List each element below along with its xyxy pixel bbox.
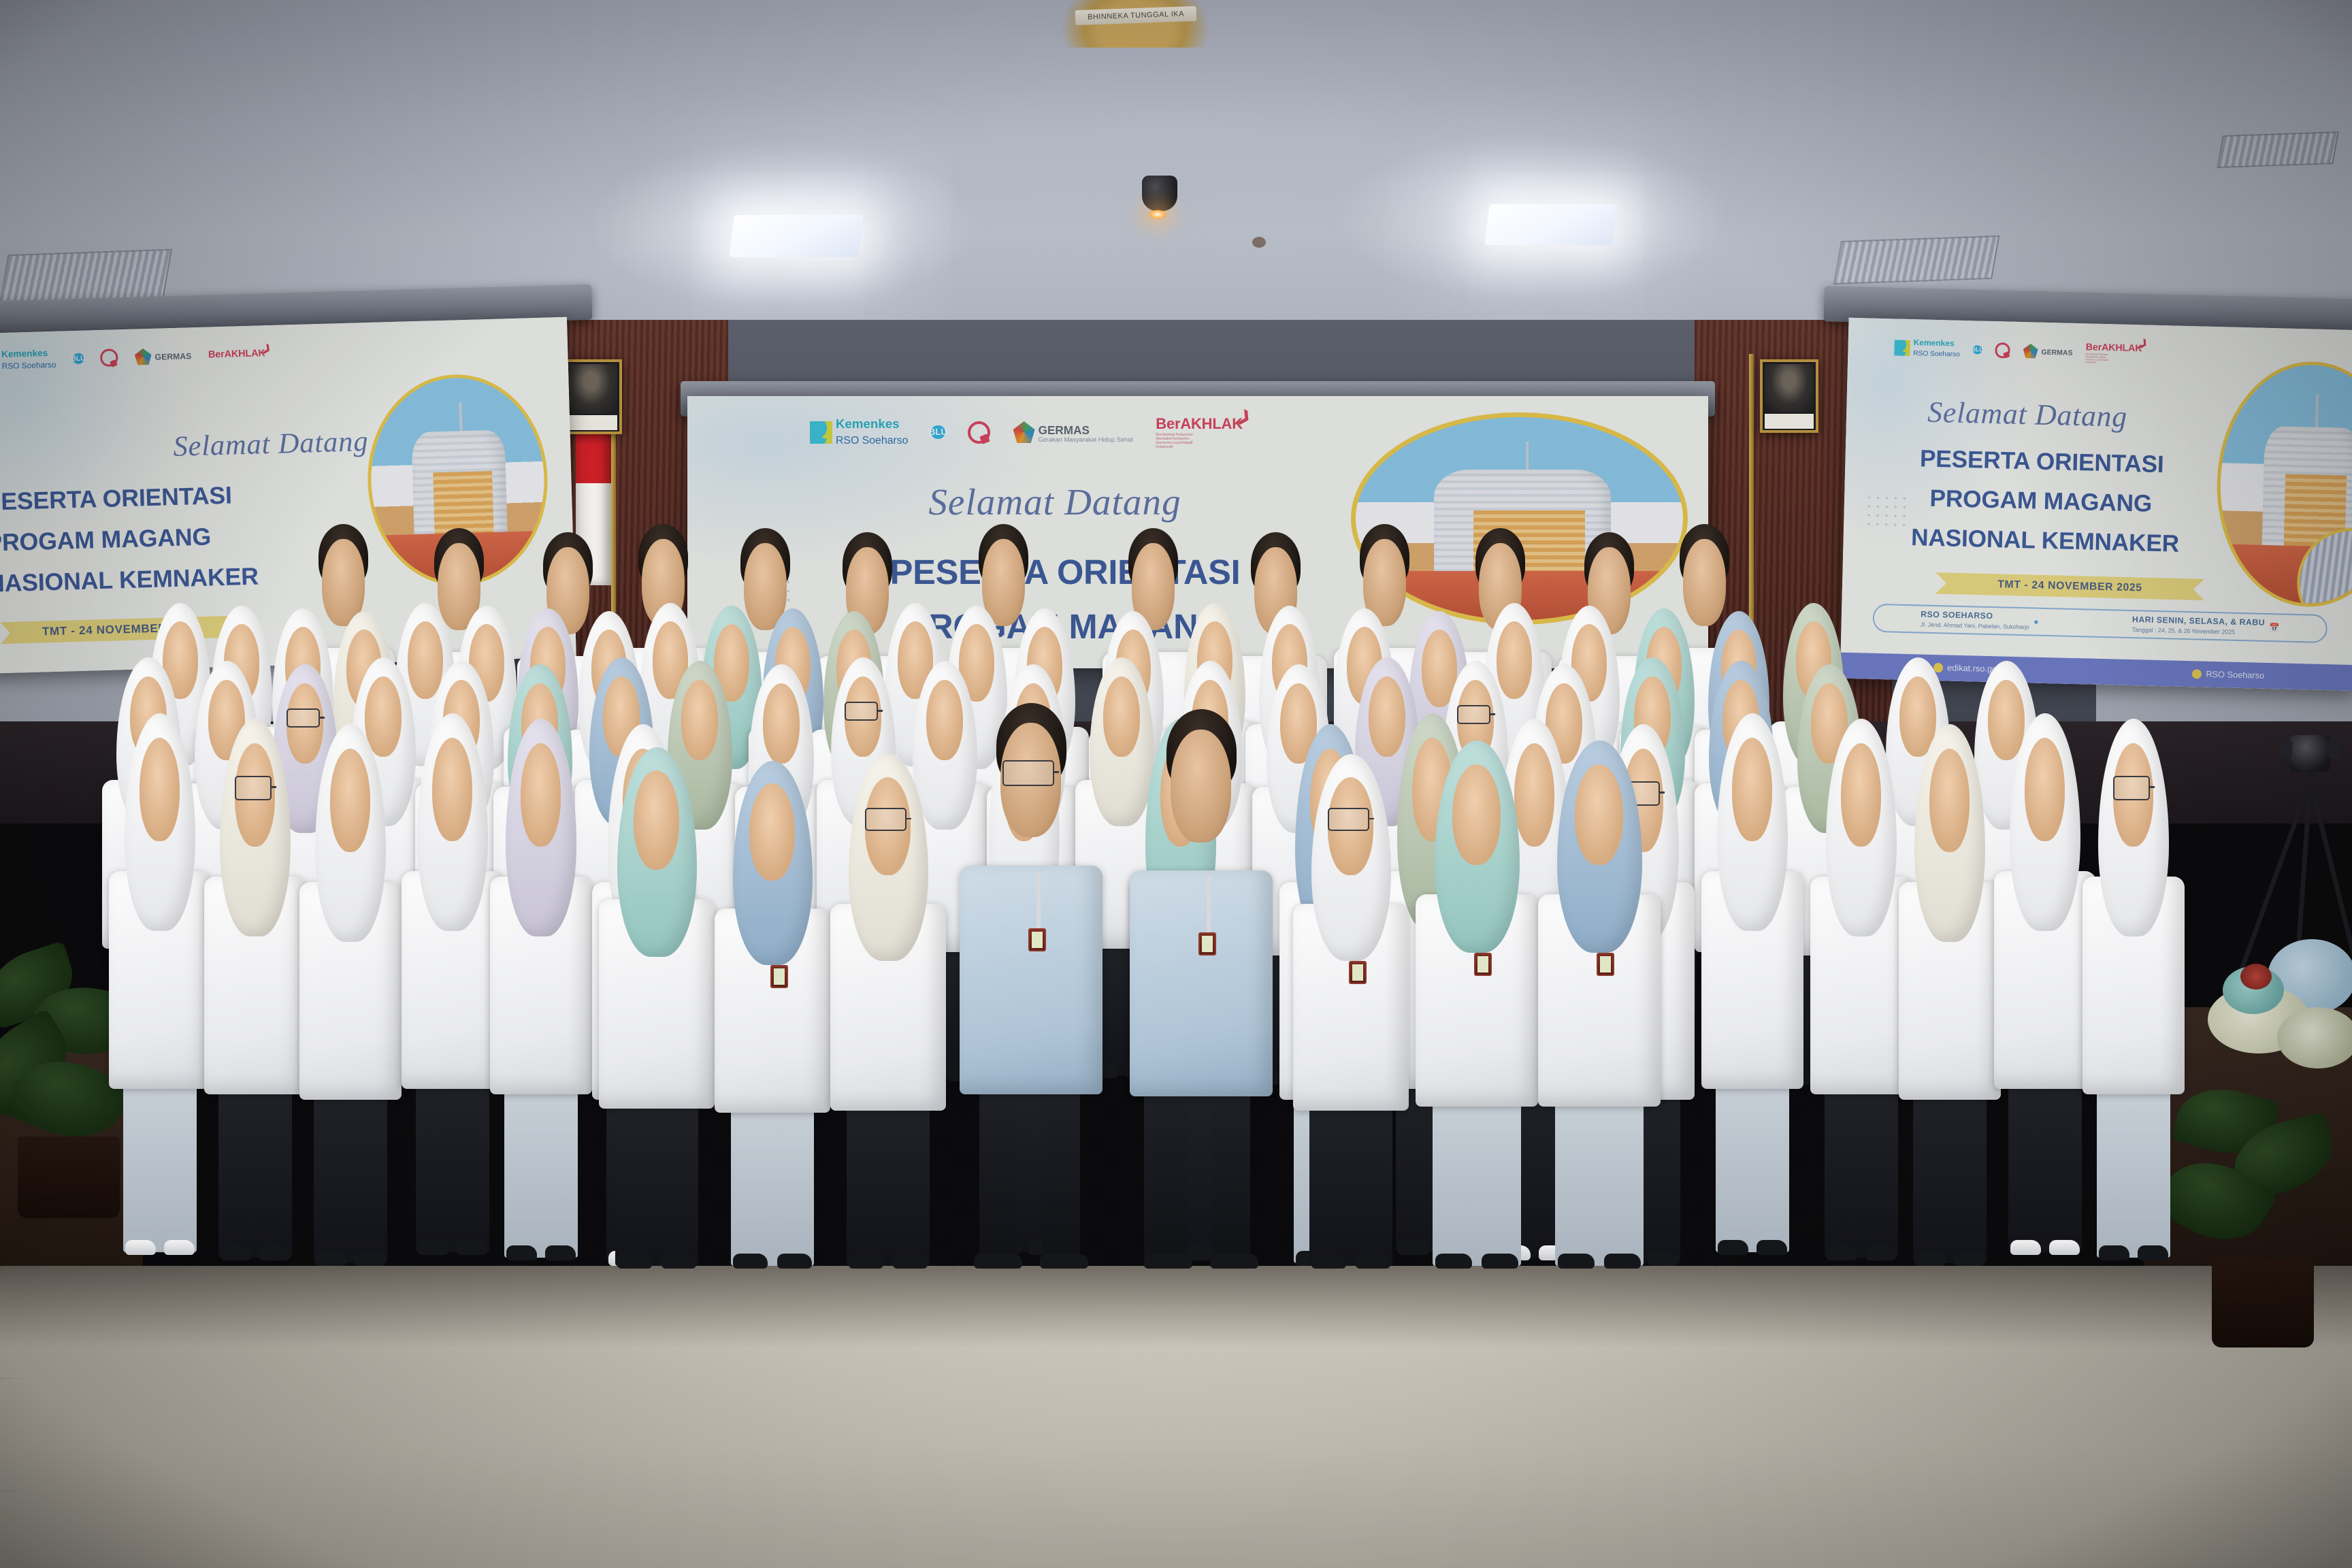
- staff-officer: [1130, 701, 1273, 1266]
- eyeglasses: [1328, 808, 1369, 831]
- face: [2025, 738, 2065, 841]
- id-badge: [1198, 932, 1216, 955]
- ceiling-light: [729, 215, 864, 257]
- id-badge: [1474, 953, 1492, 976]
- shoe: [1718, 1240, 1748, 1255]
- blu-logo: BLU: [1973, 345, 1982, 355]
- id-badge: [1349, 961, 1367, 984]
- shoe: [418, 1240, 448, 1255]
- welcome-script: Selamat Datang: [687, 480, 1422, 523]
- shoe: [355, 1251, 385, 1266]
- id-badge: [1597, 953, 1614, 976]
- id-badge: [770, 965, 788, 988]
- quality-mark: [968, 421, 990, 444]
- kemenkes-logo: KemenkesRSO Soeharso: [0, 348, 56, 372]
- id-badge: [1028, 928, 1046, 951]
- video-camera-icon: [2289, 735, 2330, 772]
- shoe: [1915, 1251, 1946, 1266]
- shoe: [125, 1240, 156, 1255]
- shoe: [1827, 1245, 1857, 1260]
- lanyard: [1036, 871, 1041, 928]
- participant: [402, 708, 504, 1252]
- uniform-shirt: [1130, 870, 1273, 1096]
- blu-mark: BLU: [1973, 345, 1982, 355]
- lanyard: [1207, 876, 1211, 932]
- participant: [599, 742, 715, 1266]
- shoe: [545, 1245, 576, 1260]
- face: [330, 749, 370, 852]
- group-photo-scene: BHINNEKA TUNGGAL IKA KemenkesRSO Soehars…: [0, 0, 2352, 1568]
- shoe: [1435, 1254, 1472, 1269]
- portrait-nameplate: [1765, 414, 1814, 429]
- staff-officer: [715, 755, 830, 1266]
- face: [1171, 730, 1231, 843]
- welcome-slide: KemenkesRSO Soeharso BLU GERMAS BerAKHLA…: [1840, 318, 2352, 691]
- shoe: [893, 1254, 928, 1269]
- participant: [1810, 713, 1912, 1258]
- quality-mark: [1995, 342, 2010, 358]
- kemenkes-mark: [1895, 340, 1910, 356]
- plant-pot: [18, 1137, 120, 1218]
- shoe: [259, 1245, 290, 1260]
- hospital-building-photo: [2215, 359, 2352, 609]
- social-contact: RSO Soeharso: [2192, 669, 2264, 681]
- shoe: [1356, 1254, 1390, 1269]
- shoe: [1040, 1254, 1088, 1269]
- blu-mark: BLU: [73, 353, 84, 364]
- berakhlak-logo: BerAKHLAK❯ Berorientasi Pelayanan Akunta…: [2085, 342, 2142, 365]
- participant: [1701, 708, 1803, 1252]
- blu-logo: BLU: [931, 425, 945, 439]
- quality-logo: [968, 421, 990, 444]
- shoe: [1482, 1254, 1518, 1269]
- venue-info: RSO SOEHARSO Jl. Jend. Ahmad Yani, Pabel…: [1921, 610, 2039, 632]
- face: [634, 770, 679, 870]
- tiled-floor: [0, 1266, 2352, 1568]
- staff-officer: [1293, 749, 1409, 1266]
- participant: [109, 708, 211, 1252]
- staff-officer: [1416, 735, 1538, 1266]
- plant-pot: [2212, 1259, 2314, 1347]
- garuda-motto-sash: BHINNEKA TUNGGAL IKA: [1075, 6, 1197, 25]
- participant: [2082, 713, 2185, 1258]
- shoe: [316, 1251, 346, 1266]
- shoe: [661, 1254, 696, 1269]
- portrait-photo: [564, 364, 617, 414]
- participant: [1994, 708, 2096, 1252]
- germas-mark: [2023, 344, 2038, 359]
- air-vent-icon: [1833, 235, 2000, 284]
- flower-cluster: [2240, 964, 2272, 990]
- germas-mark: [135, 348, 152, 365]
- face: [140, 738, 180, 841]
- quality-mark: [100, 349, 118, 367]
- shoe: [849, 1254, 883, 1269]
- participant: [1899, 719, 2001, 1263]
- shoe: [777, 1254, 812, 1269]
- vice-president-portrait: [1760, 359, 1818, 433]
- quality-logo: [1995, 342, 2010, 358]
- shoe: [457, 1240, 487, 1255]
- face: [1575, 764, 1623, 865]
- shoe: [1757, 1240, 1787, 1255]
- event-info-bar: RSO SOEHARSO Jl. Jend. Ahmad Yani, Pabel…: [1872, 604, 2328, 643]
- face: [1841, 743, 1881, 847]
- kemenkes-mark: [810, 421, 832, 444]
- shoe: [2010, 1240, 2041, 1255]
- instagram-icon: [2192, 669, 2202, 679]
- quality-logo: [100, 349, 118, 367]
- portrait-nameplate: [564, 415, 617, 430]
- face: [432, 738, 472, 841]
- face: [1452, 764, 1501, 865]
- face: [521, 743, 561, 847]
- shoe: [164, 1240, 195, 1255]
- eyeglasses: [865, 808, 906, 831]
- garuda-emblem: BHINNEKA TUNGGAL IKA: [1060, 0, 1210, 48]
- shoe: [974, 1254, 1022, 1269]
- staff-officer: [1538, 735, 1661, 1266]
- ceiling-dome-detector: [1252, 237, 1266, 248]
- face: [1929, 749, 1970, 852]
- shoe: [1604, 1254, 1641, 1269]
- shoe: [220, 1245, 251, 1260]
- shoe: [2099, 1245, 2129, 1260]
- eyeglasses: [1002, 760, 1054, 786]
- participant: [490, 713, 592, 1258]
- date-info: HARI SENIN, SELASA, & RABU Tanggal : 24,…: [2131, 615, 2279, 638]
- kemenkes-logo: KemenkesRSO Soeharso: [1895, 338, 1961, 359]
- blu-logo: BLU: [73, 353, 84, 364]
- participant: [299, 719, 402, 1263]
- projection-screen-right: KemenkesRSO Soeharso BLU GERMAS BerAKHLA…: [1840, 318, 2352, 691]
- shoe: [2049, 1240, 2080, 1255]
- germas-logo: GERMASGerakan Masyarakat Hidup Sehat: [1013, 421, 1133, 444]
- shoe: [1865, 1245, 1896, 1260]
- shoe: [1144, 1254, 1192, 1269]
- participant: [830, 749, 946, 1266]
- germas-mark: [1013, 421, 1035, 443]
- berakhlak-logo: BerAKHLAK❯: [208, 348, 265, 360]
- eyeglasses: [235, 776, 272, 800]
- ceiling-light: [1484, 204, 1617, 245]
- berakhlak-logo: BerAKHLAK❯ Berorientasi Pelayanan Akunta…: [1156, 415, 1243, 449]
- face: [1732, 738, 1772, 841]
- kemenkes-logo: KemenkesRSO Soeharso: [810, 417, 908, 446]
- participant: [204, 713, 306, 1258]
- germas-logo: GERMAS: [135, 347, 192, 365]
- air-vent-icon: [2217, 131, 2339, 168]
- staff-officer: [960, 694, 1102, 1266]
- shoe: [617, 1254, 652, 1269]
- location-pin-icon: ●: [2033, 617, 2039, 627]
- shoe: [506, 1245, 537, 1260]
- flower-cluster: [2277, 1007, 2352, 1068]
- blu-mark: BLU: [931, 425, 945, 439]
- shoe: [1311, 1254, 1346, 1269]
- face: [763, 683, 800, 764]
- germas-logo: GERMAS: [2023, 344, 2073, 360]
- floor-shadow: [0, 1266, 2352, 1347]
- calendar-icon: 📅: [2269, 623, 2280, 633]
- shoe: [733, 1254, 768, 1269]
- shoe: [2138, 1245, 2168, 1260]
- uniform-shirt: [960, 866, 1102, 1094]
- portrait-photo: [1765, 364, 1814, 412]
- air-vent-icon: [0, 249, 172, 304]
- flower-arrangement: [2202, 939, 2352, 1116]
- face: [749, 783, 795, 881]
- eyeglasses: [2113, 776, 2150, 800]
- potted-plant-right: [2171, 1089, 2352, 1361]
- ceiling-spotlight: [1142, 176, 1177, 211]
- shoe: [1210, 1254, 1258, 1269]
- shoe: [1954, 1251, 1984, 1266]
- tmt-ribbon: TMT - 24 NOVEMBER 2025: [1935, 572, 2205, 600]
- eyeglasses: [845, 702, 878, 721]
- shoe: [1558, 1254, 1595, 1269]
